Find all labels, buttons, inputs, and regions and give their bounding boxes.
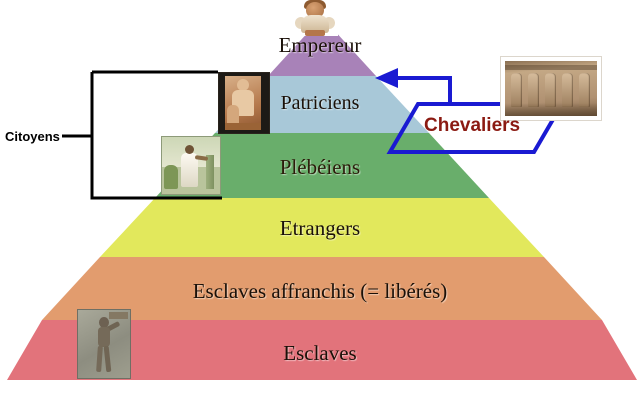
patrician-statue-photo bbox=[218, 72, 270, 134]
diagram-canvas: Empereur Patriciens Plébéiens Etrangers … bbox=[0, 0, 640, 400]
plebeian-engraving-photo bbox=[161, 136, 221, 195]
emperor-bust-photo bbox=[292, 0, 338, 36]
citoyens-label: Citoyens bbox=[5, 129, 60, 144]
roman-relief-photo bbox=[500, 56, 602, 121]
chevaliers-label: Chevaliers bbox=[424, 115, 520, 137]
pyramid-tier-etrangers[interactable] bbox=[100, 198, 544, 257]
slave-fresco-photo bbox=[77, 309, 131, 379]
